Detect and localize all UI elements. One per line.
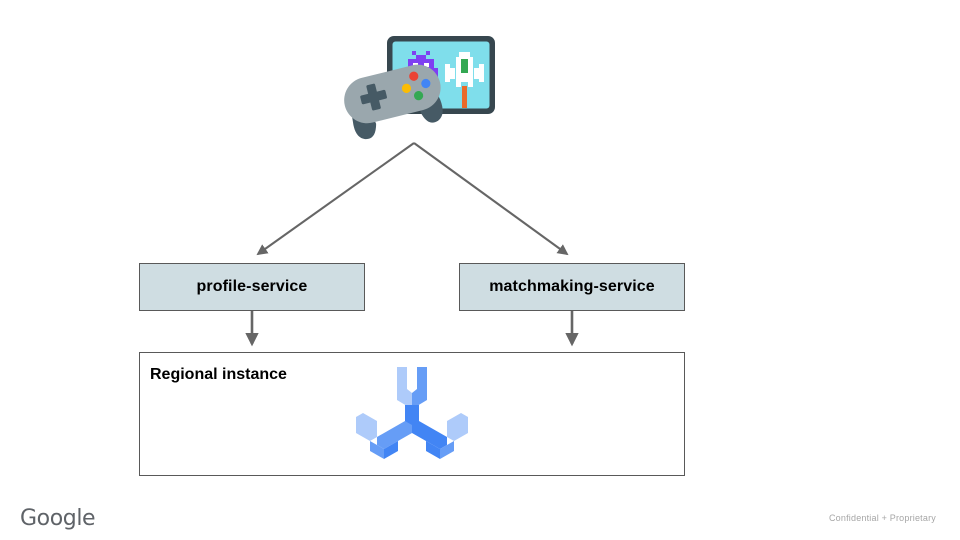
confidential-note: Confidential + Proprietary — [829, 513, 936, 523]
rocket-flame — [462, 86, 467, 108]
edge-client-to-matchmaking-service — [414, 143, 567, 254]
profile-service-label: profile-service — [197, 278, 308, 296]
icon-top-right-jaw — [412, 367, 427, 409]
rocket-window — [461, 59, 468, 73]
matchmaking-service-label: matchmaking-service — [489, 278, 655, 296]
edge-client-to-profile-service — [258, 143, 414, 254]
regional-instance-label: Regional instance — [150, 366, 287, 384]
google-logo: Google — [20, 506, 95, 531]
node-profile-service[interactable]: profile-service — [139, 263, 365, 311]
game-servers-icon — [354, 361, 470, 465]
icon-right-jaw-light — [447, 413, 468, 441]
slide-canvas: profile-service matchmaking-service Regi… — [0, 0, 960, 540]
icon-top-left-jaw — [397, 367, 412, 409]
node-matchmaking-service[interactable]: matchmaking-service — [459, 263, 685, 311]
icon-left-jaw-light — [356, 413, 377, 441]
node-regional-instance[interactable]: Regional instance — [139, 352, 685, 476]
gaming-illustration — [337, 30, 502, 150]
game-controller-icon — [339, 60, 449, 143]
